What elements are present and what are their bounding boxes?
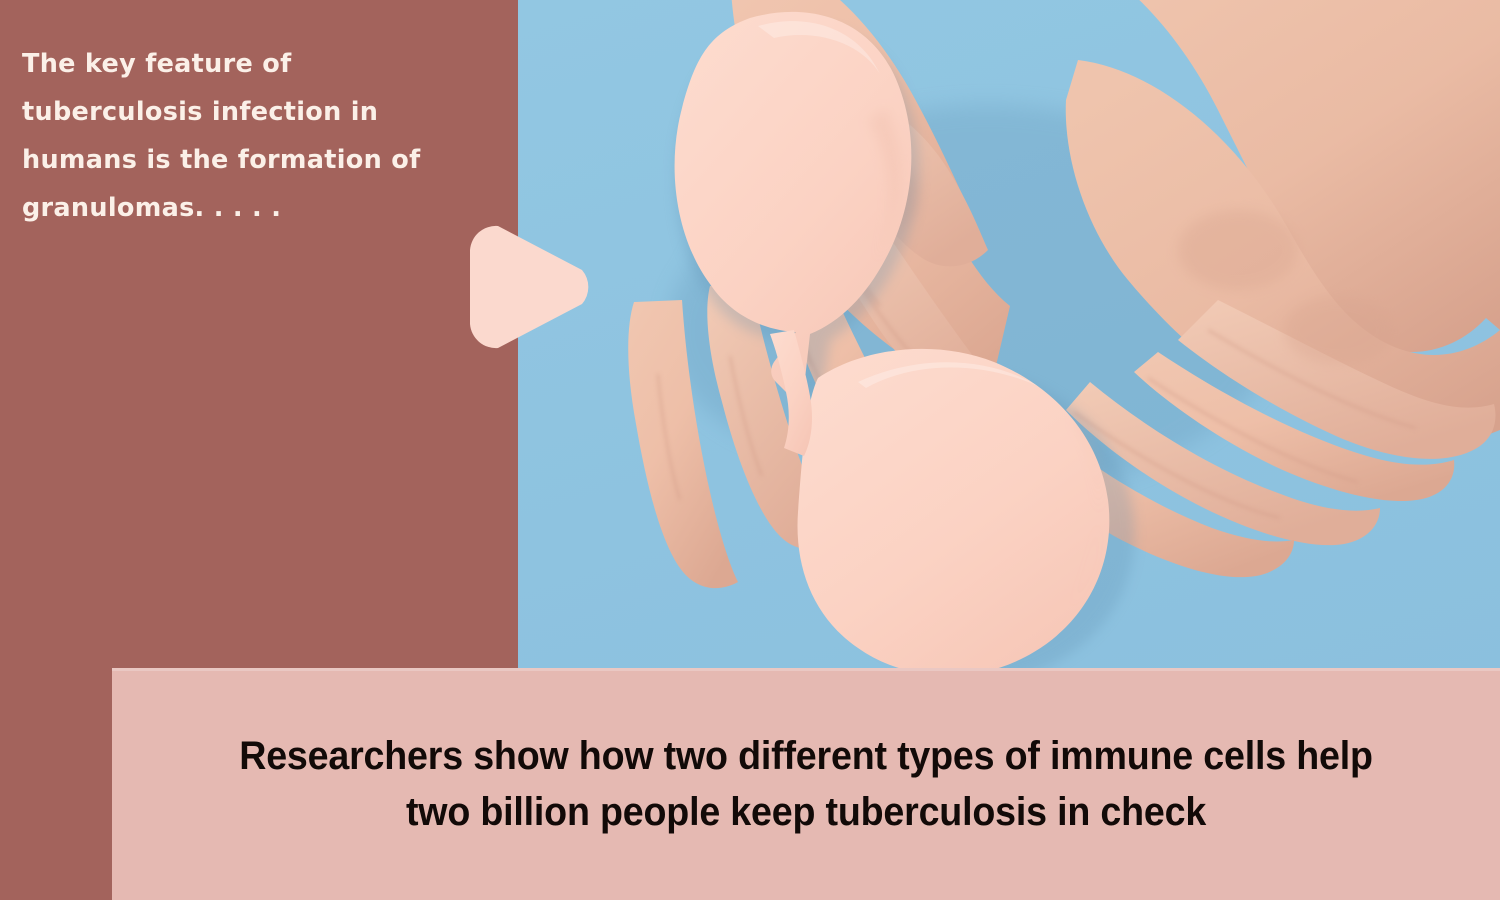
play-triangle-icon bbox=[462, 212, 596, 362]
headline: Researchers show how two different types… bbox=[223, 728, 1389, 840]
play-button[interactable] bbox=[462, 212, 596, 362]
quote-text: The key feature of tuberculosis infectio… bbox=[22, 40, 492, 232]
video-card: The key feature of tuberculosis infectio… bbox=[0, 0, 1500, 900]
caption-bar: Researchers show how two different types… bbox=[112, 668, 1500, 900]
